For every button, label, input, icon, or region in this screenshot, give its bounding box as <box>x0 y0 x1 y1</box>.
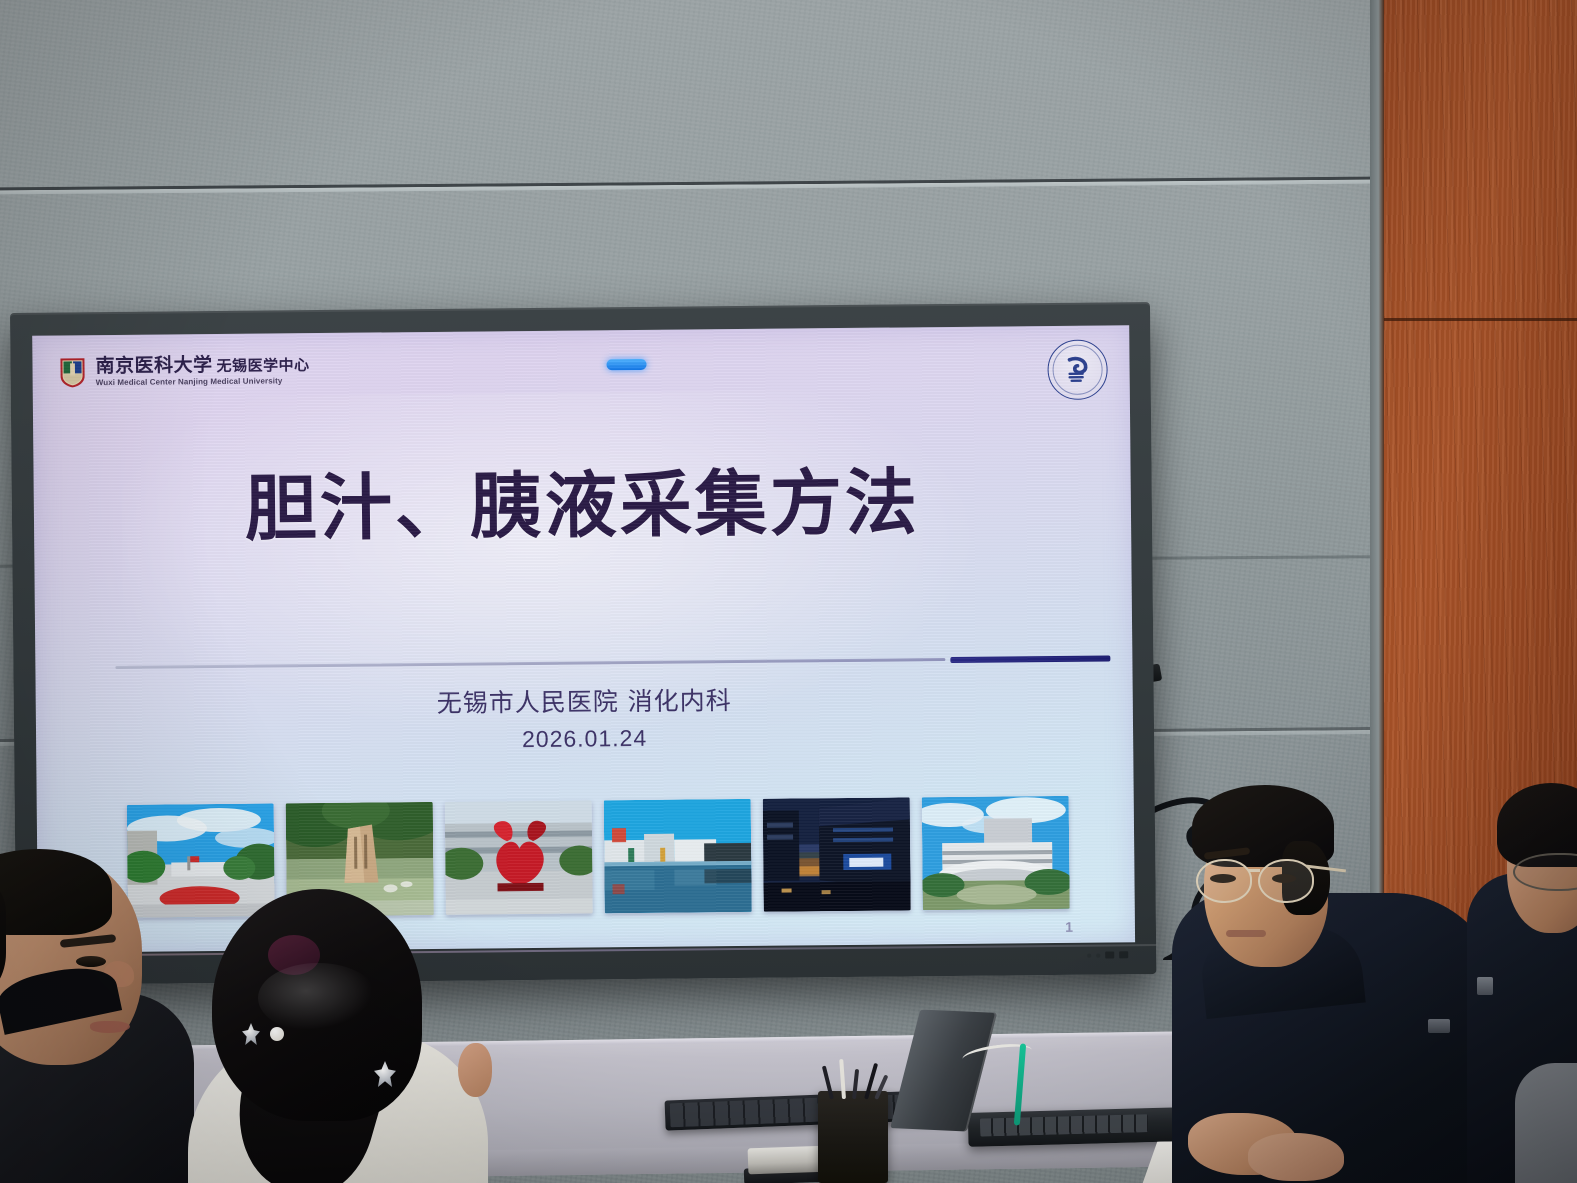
woman-ear <box>458 1043 492 1097</box>
round-glasses <box>1196 857 1340 901</box>
logo-ring <box>1052 345 1102 395</box>
port-indicator <box>1087 953 1091 957</box>
stapler[interactable] <box>748 1146 829 1175</box>
shield-icon <box>58 356 86 388</box>
pen <box>839 1059 846 1099</box>
pen-cup[interactable] <box>818 1091 888 1183</box>
man-right-hand <box>1248 1133 1344 1181</box>
slide-page-number: 1 <box>1065 919 1073 935</box>
man-mouth <box>1226 930 1266 937</box>
glasses-left-lens <box>1196 859 1252 903</box>
university-name-cn: 南京医科大学 <box>95 354 212 377</box>
far-right-sleeve-tag <box>1477 977 1493 995</box>
power-indicator <box>606 359 646 370</box>
divider-accent-line <box>950 655 1110 663</box>
hospital-logo <box>1047 339 1108 400</box>
laptop[interactable] <box>903 1022 1174 1149</box>
university-name-en: Wuxi Medical Center Nanjing Medical Univ… <box>96 377 310 387</box>
left-man-hair <box>0 849 112 935</box>
divider-thin-line <box>115 658 945 669</box>
university-center-cn: 无锡医学中心 <box>216 356 309 375</box>
laptop-keyboard[interactable] <box>980 1114 1148 1136</box>
far-right-sleeve <box>1515 1063 1577 1183</box>
pens-in-cup <box>826 1059 882 1099</box>
slide-title: 胆汁、胰液采集方法 <box>33 441 1131 557</box>
laptop-base[interactable] <box>968 1107 1177 1146</box>
usb-port[interactable] <box>1105 951 1114 958</box>
university-logo: 南京医科大学无锡医学中心 Wuxi Medical Center Nanjing… <box>58 354 309 388</box>
jacket-sleeve-tag <box>1428 1019 1450 1033</box>
pen <box>852 1069 859 1099</box>
wood-panel-seam <box>1370 318 1577 321</box>
conference-room-photo: 南京医科大学无锡医学中心 Wuxi Medical Center Nanjing… <box>0 0 1577 1183</box>
left-man-eye <box>76 956 106 967</box>
hair-highlight <box>258 963 378 1033</box>
pearl-hair-pin <box>270 1027 284 1041</box>
attendee-far-right <box>1473 783 1577 1183</box>
presentation-date: 2026.01.24 <box>36 720 1133 758</box>
organization-line: 无锡市人民医院 消化内科 <box>36 677 1133 724</box>
attendee-woman-ponytail <box>198 883 498 1183</box>
photo-waterfront <box>604 799 752 913</box>
glasses-bridge <box>1248 869 1260 872</box>
photo-hospital-building <box>922 796 1070 910</box>
attendee-left-man <box>0 853 214 1183</box>
port-indicator <box>1096 953 1100 957</box>
photo-night-commercial <box>763 797 911 911</box>
title-divider <box>115 655 1110 670</box>
display-ports <box>1087 951 1128 958</box>
usb-port[interactable] <box>1119 951 1128 958</box>
